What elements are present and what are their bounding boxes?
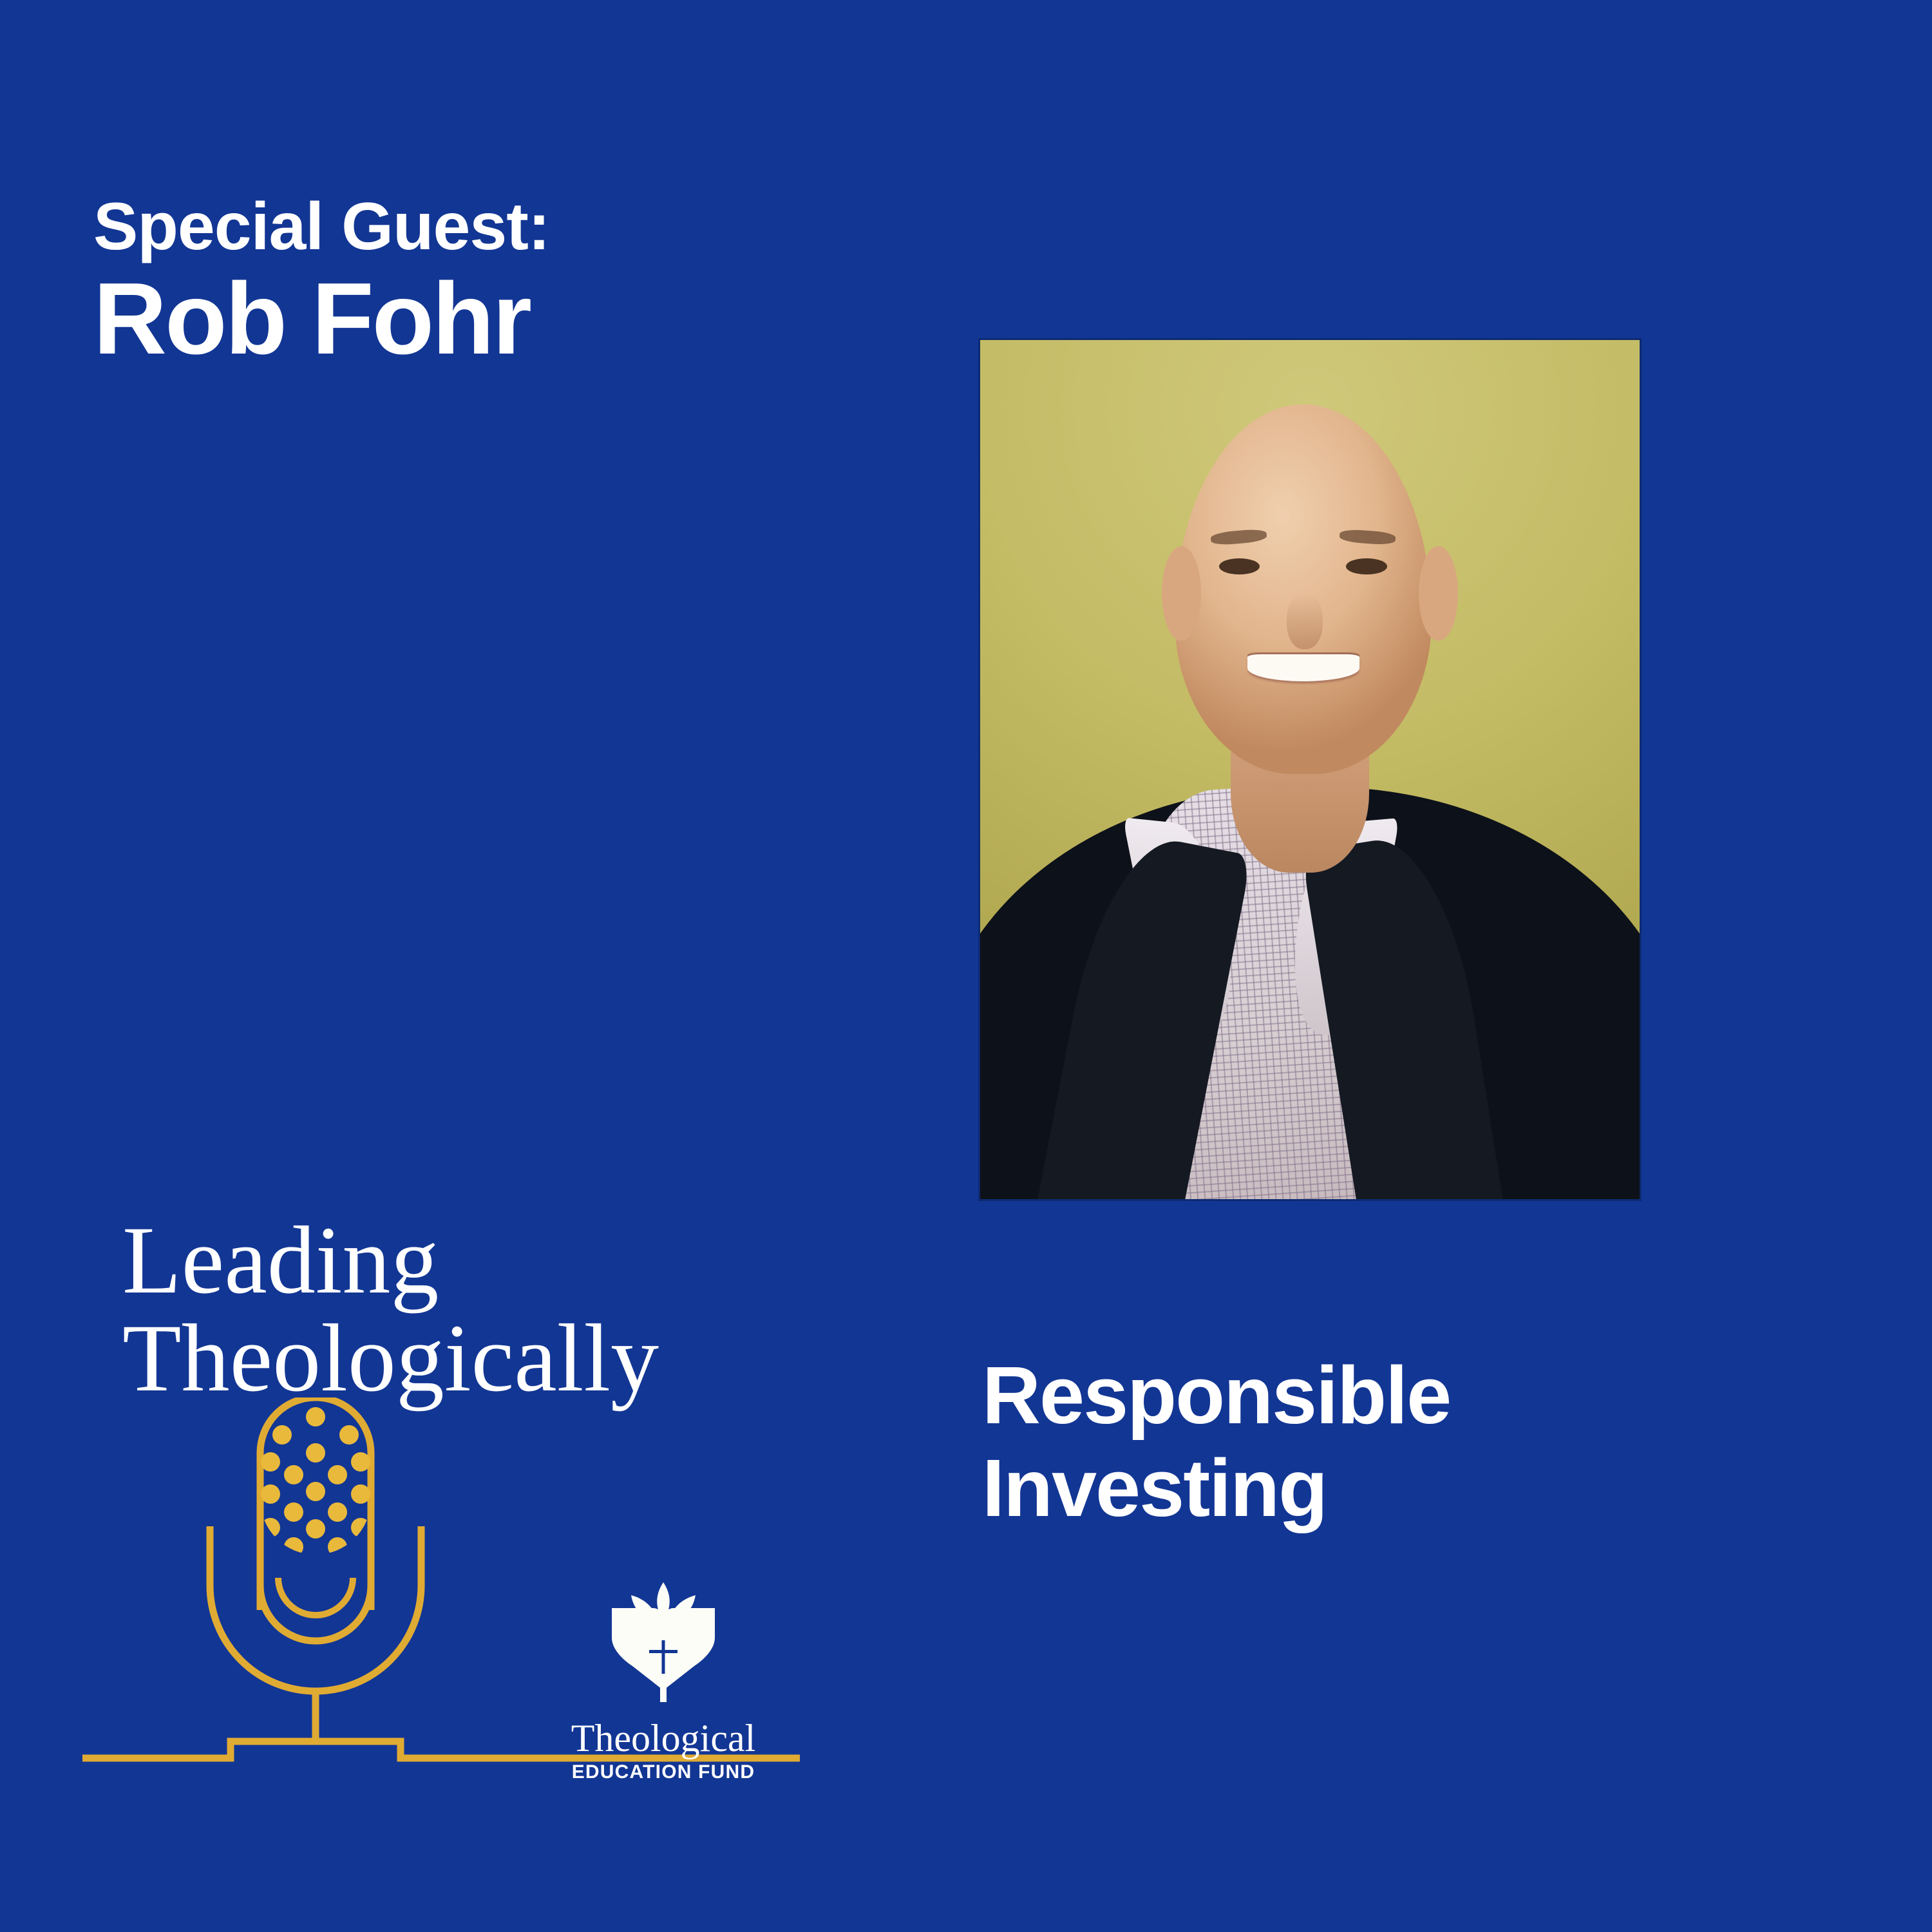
photo-ear-right bbox=[1419, 546, 1458, 641]
episode-title-line-1: Responsible bbox=[982, 1349, 1851, 1442]
photo-head bbox=[1175, 404, 1432, 774]
theological-education-fund-logo: Theological EDUCATION FUND bbox=[567, 1581, 760, 1794]
photo-nose bbox=[1287, 594, 1323, 650]
podcast-title-line-1: Leading bbox=[122, 1211, 439, 1311]
podcast-episode-cover: Special Guest: Rob Fohr Responsible Inve… bbox=[0, 0, 1932, 1932]
photo-ear-left bbox=[1162, 546, 1201, 641]
guest-name: Rob Fohr bbox=[93, 268, 866, 370]
photo-eye-right bbox=[1346, 558, 1387, 574]
special-guest-block: Special Guest: Rob Fohr bbox=[93, 193, 866, 370]
microphone-grille-dots bbox=[261, 1407, 370, 1603]
podcast-title-line-2: Theologically bbox=[122, 1309, 659, 1408]
photo-smile bbox=[1247, 654, 1359, 681]
sponsor-name: Theological bbox=[567, 1719, 760, 1757]
photo-eye-left bbox=[1219, 558, 1260, 574]
guest-photo bbox=[980, 340, 1640, 1199]
episode-title: Responsible Investing bbox=[982, 1349, 1851, 1534]
special-guest-label: Special Guest: bbox=[93, 193, 866, 260]
book-leaves-cross-icon bbox=[607, 1581, 720, 1716]
episode-title-line-2: Investing bbox=[982, 1442, 1851, 1535]
sponsor-subtitle: EDUCATION FUND bbox=[567, 1761, 760, 1783]
